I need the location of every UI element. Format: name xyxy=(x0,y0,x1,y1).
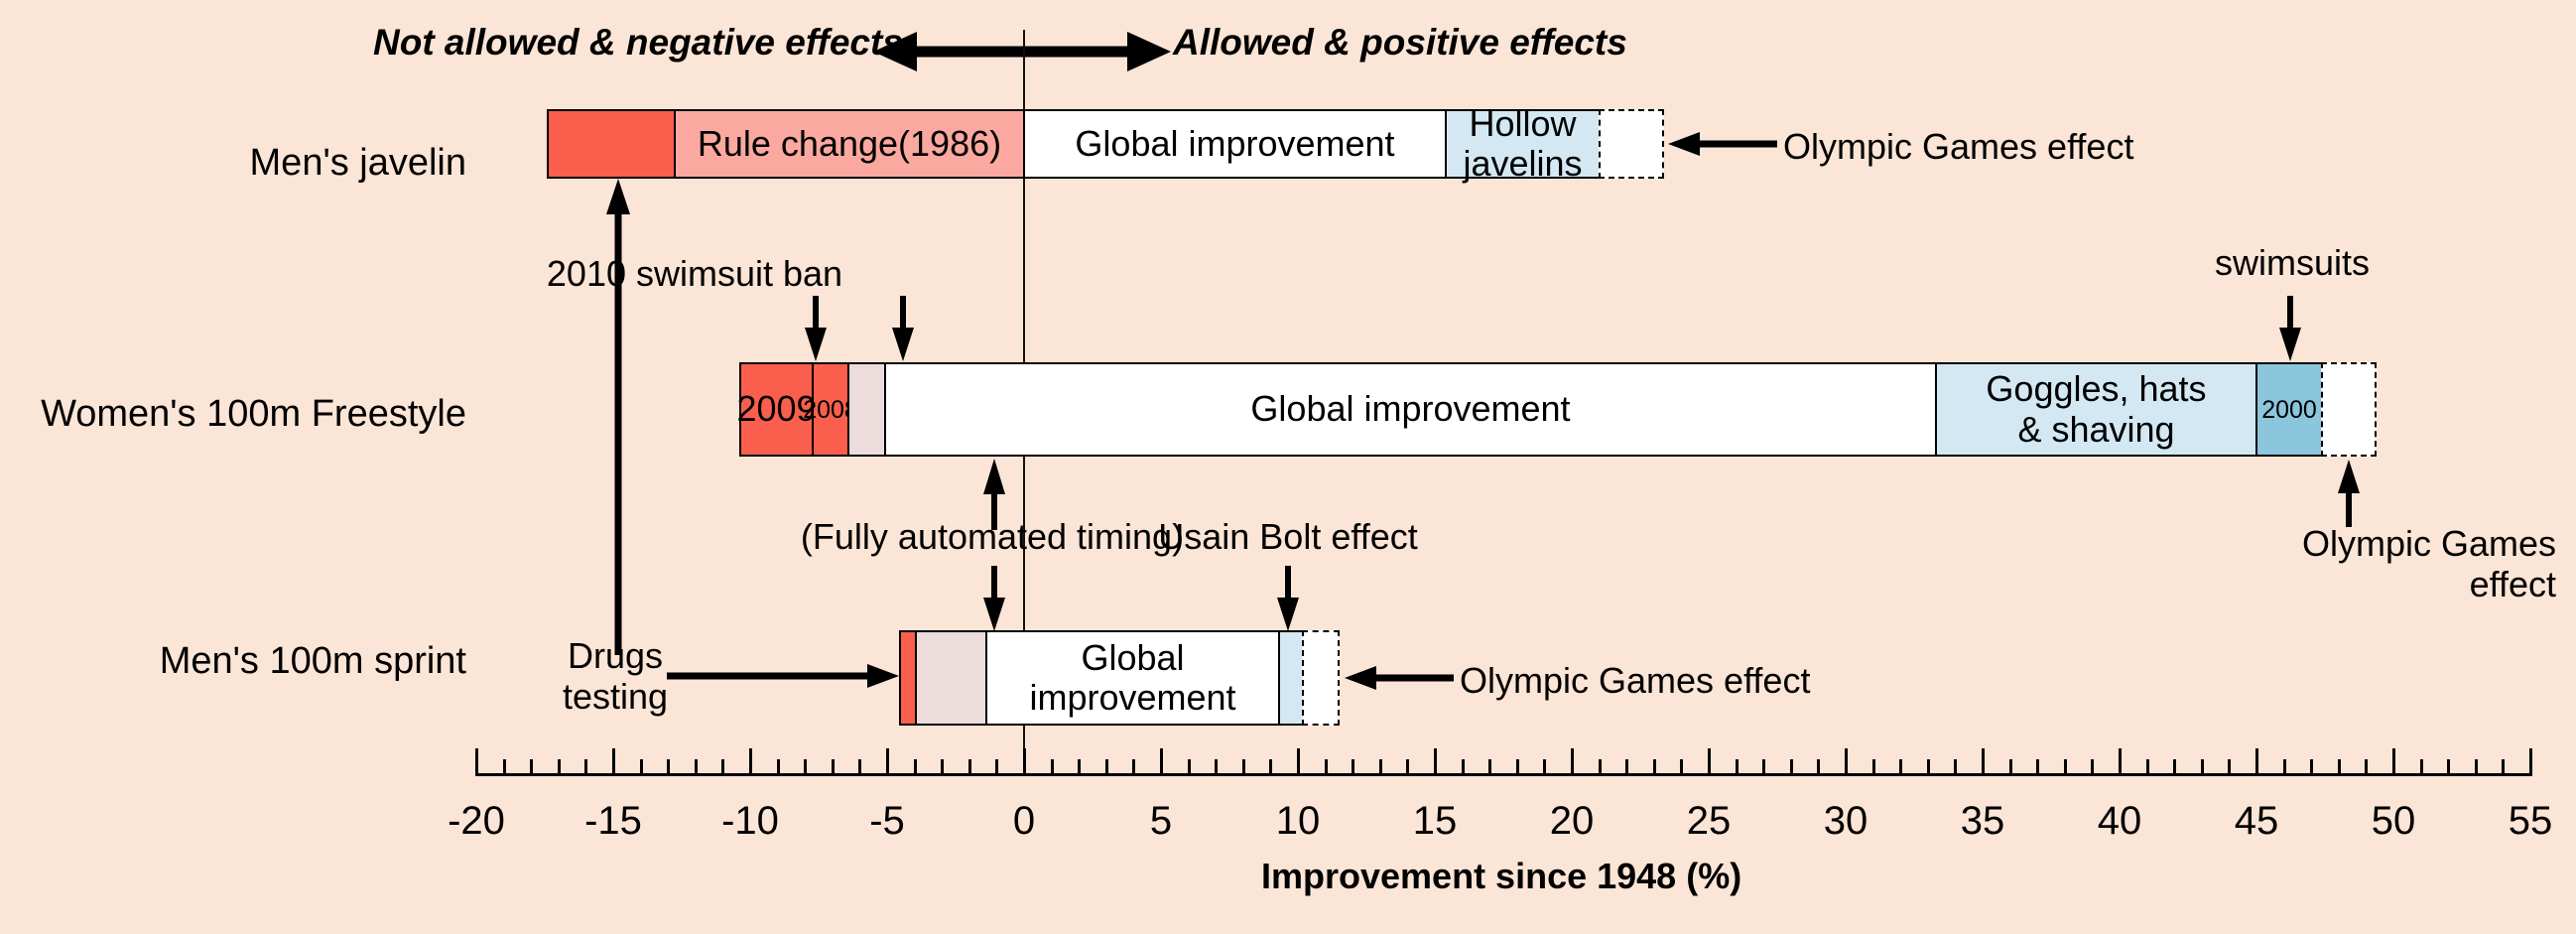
x-axis-major-tick xyxy=(886,748,889,776)
x-axis-minor-tick xyxy=(584,759,587,776)
x-axis-major-tick xyxy=(2255,748,2258,776)
x-axis-minor-tick xyxy=(941,759,944,776)
x-axis-minor-tick xyxy=(2502,759,2505,776)
row-label-sprint: Men's 100m sprint xyxy=(0,640,466,683)
x-axis-minor-tick xyxy=(695,759,698,776)
usain-bolt-label: Usain Bolt effect xyxy=(1099,516,1477,557)
x-axis-minor-tick xyxy=(914,759,917,776)
x-axis-minor-tick xyxy=(777,759,780,776)
x-axis-minor-tick xyxy=(2091,759,2094,776)
x-axis-major-tick xyxy=(2119,748,2122,776)
x-axis-minor-tick xyxy=(1872,759,1875,776)
x-axis-minor-tick xyxy=(1406,759,1409,776)
x-axis-tick-label: 0 xyxy=(965,799,1084,844)
note-positive-effects: Allowed & positive effects xyxy=(1173,22,1627,64)
x-axis-major-tick xyxy=(1434,748,1437,776)
x-axis-minor-tick xyxy=(1680,759,1683,776)
x-axis-major-tick xyxy=(1297,748,1300,776)
javelin-olympic-arrow xyxy=(1668,131,1777,157)
freestyle-goggles-line2: & shaving xyxy=(2017,410,2174,450)
drugs-testing-horizontal-arrow xyxy=(667,663,899,689)
x-axis-minor-tick xyxy=(1653,759,1656,776)
sprint-segment-usain-bolt xyxy=(1278,630,1304,726)
x-axis-tick-label: 20 xyxy=(1512,799,1631,844)
x-axis-tick-label: -15 xyxy=(554,799,673,844)
x-axis-minor-tick xyxy=(1790,759,1793,776)
note-negative-effects: Not allowed & negative effects xyxy=(373,22,903,64)
x-axis-tick-label: 35 xyxy=(1923,799,2042,844)
x-axis-tick-label: 40 xyxy=(2060,799,2179,844)
javelin-segment-drugs xyxy=(547,109,676,179)
x-axis-tick-label: 5 xyxy=(1101,799,1221,844)
sprint-olympic-label: Olympic Games effect xyxy=(1460,660,1810,701)
x-axis-minor-tick xyxy=(1462,759,1465,776)
x-axis-tick-label: 15 xyxy=(1375,799,1494,844)
x-axis-major-tick xyxy=(1160,748,1163,776)
x-axis-minor-tick xyxy=(2338,759,2341,776)
x-axis-minor-tick xyxy=(804,759,807,776)
x-axis-minor-tick xyxy=(1269,759,1272,776)
x-axis-major-tick xyxy=(1845,748,1848,776)
x-axis-minor-tick xyxy=(2009,759,2012,776)
x-axis-minor-tick xyxy=(1817,759,1820,776)
javelin-segment-hollow-javelins: Hollow javelins xyxy=(1445,109,1601,179)
x-axis-tick-label: 45 xyxy=(2197,799,2316,844)
x-axis-major-tick xyxy=(749,748,752,776)
x-axis-major-tick xyxy=(1023,748,1026,776)
x-axis-minor-tick xyxy=(1516,759,1519,776)
x-axis-minor-tick xyxy=(2036,759,2039,776)
x-axis-tick-label: 30 xyxy=(1786,799,1905,844)
x-axis-tick-label: -10 xyxy=(691,799,810,844)
freestyle-segment-timing xyxy=(847,362,886,457)
freestyle-olympic-arrow xyxy=(2337,460,2361,527)
row-label-javelin: Men's javelin xyxy=(0,142,466,185)
sprint-segment-timing xyxy=(915,630,987,726)
usain-bolt-arrow xyxy=(1276,566,1300,631)
x-axis-minor-tick xyxy=(558,759,561,776)
x-axis-minor-tick xyxy=(1325,759,1328,776)
freestyle-segment-2000: 2000 xyxy=(2255,362,2323,457)
x-axis-minor-tick xyxy=(1899,759,1902,776)
x-axis-major-tick xyxy=(1571,748,1574,776)
x-axis-minor-tick xyxy=(640,759,643,776)
javelin-segment-rule-change: Rule change(1986) xyxy=(674,109,1025,179)
x-axis-minor-tick xyxy=(1762,759,1765,776)
swimsuit-ban-arrow-2008 xyxy=(891,296,915,361)
x-axis-major-tick xyxy=(2392,748,2395,776)
x-axis-minor-tick xyxy=(721,759,724,776)
x-axis-minor-tick xyxy=(995,759,998,776)
swimsuit-ban-label: 2010 swimsuit ban xyxy=(466,253,923,294)
swimsuits-label: swimsuits xyxy=(2173,242,2411,283)
x-axis-tick-label: -5 xyxy=(828,799,947,844)
x-axis-minor-tick xyxy=(2420,759,2423,776)
x-axis-minor-tick xyxy=(1188,759,1191,776)
x-axis-title: Improvement since 1948 (%) xyxy=(1261,856,1741,897)
x-axis-tick-label: 10 xyxy=(1238,799,1357,844)
x-axis-minor-tick xyxy=(503,759,506,776)
freestyle-segment-2008: 2008 xyxy=(812,362,849,457)
timing-arrow-sprint xyxy=(982,566,1006,631)
freestyle-olympic-label: Olympic Games effect xyxy=(2044,523,2556,605)
row-label-freestyle: Women's 100m Freestyle xyxy=(0,393,466,436)
x-axis-minor-tick xyxy=(1599,759,1602,776)
x-axis-minor-tick xyxy=(1543,759,1546,776)
x-axis-tick-label: 50 xyxy=(2334,799,2453,844)
x-axis-minor-tick xyxy=(1625,759,1628,776)
drugs-testing-vertical-arrow xyxy=(605,179,631,655)
x-axis-minor-tick xyxy=(2064,759,2067,776)
x-axis-minor-tick xyxy=(1105,759,1108,776)
freestyle-segment-olympic-dashed xyxy=(2321,362,2377,457)
swimsuit-ban-arrow-2009 xyxy=(804,296,828,361)
sprint-segment-global-improvement: Global improvement xyxy=(985,630,1280,726)
x-axis-minor-tick xyxy=(2447,759,2450,776)
sprint-segment-olympic-dashed xyxy=(1302,630,1340,726)
x-axis-tick-label: -20 xyxy=(417,799,536,844)
x-axis-minor-tick xyxy=(1051,759,1054,776)
x-axis-minor-tick xyxy=(530,759,533,776)
freestyle-olympic-line2: effect xyxy=(2044,564,2556,604)
x-axis-major-tick xyxy=(1708,748,1711,776)
javelin-olympic-label: Olympic Games effect xyxy=(1783,126,2133,167)
direction-double-arrow xyxy=(873,28,1171,75)
x-axis-minor-tick xyxy=(858,759,861,776)
freestyle-olympic-line1: Olympic Games xyxy=(2044,523,2556,564)
javelin-segment-global-improvement: Global improvement xyxy=(1023,109,1447,179)
x-axis-minor-tick xyxy=(1488,759,1491,776)
x-axis-minor-tick xyxy=(2365,759,2368,776)
x-axis-minor-tick xyxy=(2173,759,2176,776)
x-axis-minor-tick xyxy=(2228,759,2231,776)
x-axis-line xyxy=(476,773,2530,776)
x-axis-minor-tick xyxy=(1242,759,1245,776)
x-axis-minor-tick xyxy=(2201,759,2204,776)
x-axis-minor-tick xyxy=(1954,759,1957,776)
x-axis-minor-tick xyxy=(1379,759,1382,776)
freestyle-segment-global-improvement: Global improvement xyxy=(884,362,1937,457)
x-axis-tick-label: 25 xyxy=(1649,799,1768,844)
freestyle-segment-goggles: Goggles, hats & shaving xyxy=(1935,362,2257,457)
sprint-global-line2: improvement xyxy=(1029,678,1235,718)
freestyle-goggles-line1: Goggles, hats xyxy=(1986,369,2206,409)
x-axis-minor-tick xyxy=(968,759,971,776)
sprint-global-line1: Global xyxy=(1081,638,1184,678)
sprint-olympic-arrow xyxy=(1345,665,1454,691)
x-axis-minor-tick xyxy=(2475,759,2478,776)
x-axis-minor-tick xyxy=(1927,759,1930,776)
x-axis-minor-tick xyxy=(2283,759,2286,776)
x-axis-major-tick xyxy=(612,748,615,776)
x-axis-major-tick xyxy=(2529,748,2532,776)
x-axis-minor-tick xyxy=(1078,759,1081,776)
x-axis-minor-tick xyxy=(2146,759,2149,776)
x-axis-minor-tick xyxy=(2310,759,2313,776)
x-axis-minor-tick xyxy=(667,759,670,776)
x-axis-major-tick xyxy=(1982,748,1985,776)
javelin-hollow-line1: Hollow xyxy=(1469,104,1576,144)
swimsuits-arrow xyxy=(2278,296,2302,361)
javelin-segment-olympic-dashed xyxy=(1599,109,1664,179)
x-axis-tick-label: 55 xyxy=(2471,799,2576,844)
x-axis-minor-tick xyxy=(1132,759,1135,776)
x-axis-major-tick xyxy=(475,748,478,776)
x-axis-minor-tick xyxy=(1352,759,1354,776)
x-axis-minor-tick xyxy=(832,759,835,776)
javelin-hollow-line2: javelins xyxy=(1463,144,1582,184)
chart-canvas: Not allowed & negative effects Allowed &… xyxy=(0,0,2576,934)
x-axis-minor-tick xyxy=(1736,759,1739,776)
x-axis-minor-tick xyxy=(1215,759,1218,776)
